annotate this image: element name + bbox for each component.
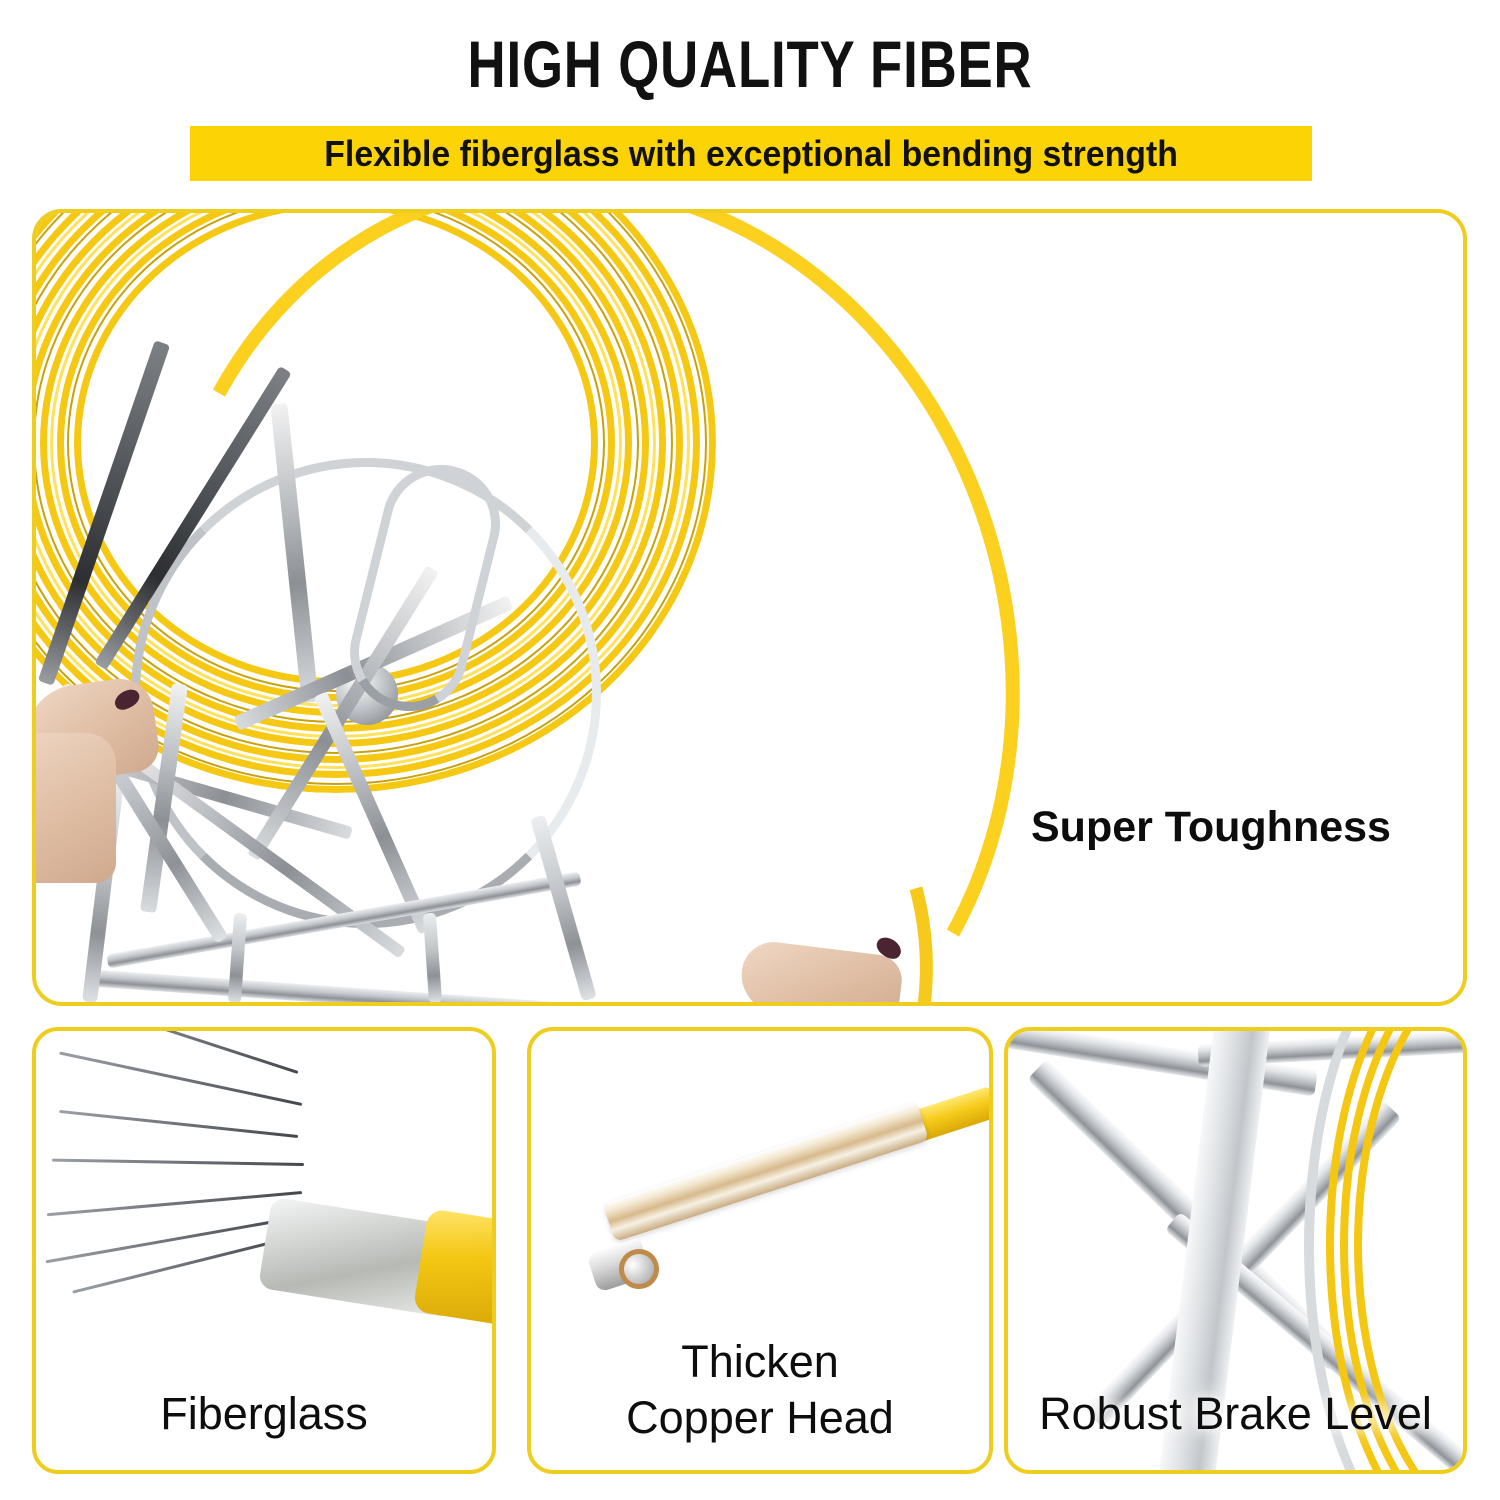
hero-photo-stage: Super Toughness [36,213,1463,1002]
fiberglass-jacket [413,1208,496,1329]
caption-copper-head: Thicken Copper Head [531,1334,989,1446]
feature-panel-fiberglass: Fiberglass [32,1027,496,1474]
copper-head-photo-stage: Thicken Copper Head [531,1031,989,1470]
subtitle-banner: Flexible fiberglass with exceptional ben… [190,126,1312,181]
glass-strand [47,1191,302,1216]
copper-head-body [603,1102,929,1242]
caption-fiberglass: Fiberglass [36,1386,492,1442]
feature-panel-copper-head: Thicken Copper Head [527,1027,993,1474]
glass-strand [72,1237,288,1294]
glass-strand [46,1217,293,1263]
glass-strand [52,1159,304,1166]
glass-strand [59,1110,298,1138]
page-title: HIGH QUALITY FIBER [150,28,1350,100]
super-toughness-callout: Super Toughness [1031,803,1391,852]
caption-brake-level: Robust Brake Level [1008,1386,1463,1442]
feature-panel-brake-level: Robust Brake Level [1004,1027,1467,1474]
fiberglass-photo-stage: Fiberglass [36,1031,492,1470]
hero-photo-panel: Super Toughness [32,209,1467,1006]
subtitle-text: Flexible fiberglass with exceptional ben… [324,133,1178,175]
forearm-upper [32,733,116,883]
glass-strand [79,1027,299,1074]
brake-level-photo-stage: Robust Brake Level [1008,1031,1463,1470]
